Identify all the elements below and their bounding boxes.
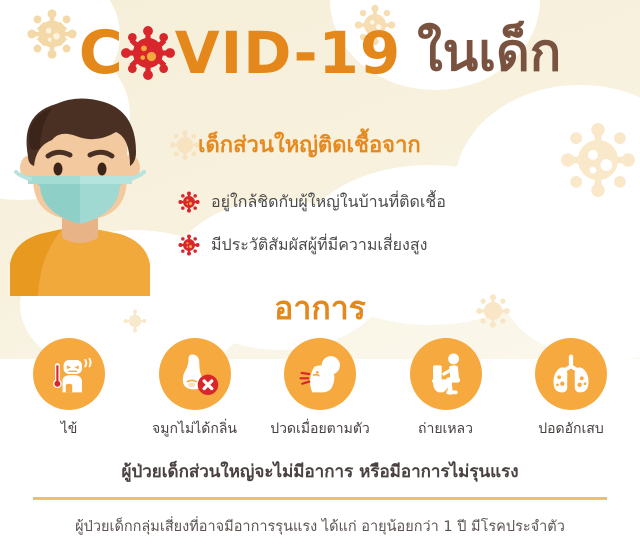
symptom-label: ปวดเมื่อยตามตัว [270,418,370,440]
icon-circle [159,338,231,410]
list-item: มีประวัติสัมผัสผู้ที่มีความเสี่ยงสูง [178,226,608,264]
virus-bullet-icon [178,191,200,213]
symptom-label: ไข้ [61,418,78,440]
symptom-item-pneumonia: ปอดอักเสบ [512,338,630,440]
icon-circle [33,338,105,410]
icon-circle [284,338,356,410]
lungs-icon [544,347,598,401]
symptom-label: จมูกไม่ได้กลิ่น [152,418,237,440]
page-title: C VID-19 ในเด็ก [0,12,640,94]
divider [33,497,607,500]
infographic-poster: C VID-19 ในเด็ก [0,0,640,549]
symptom-item-body-ache: ปวดเมื่อยตามตัว [261,338,379,440]
symptom-item-diarrhea: ถ่ายเหลว [387,338,505,440]
fever-icon [42,347,96,401]
bullet-list: อยู่ใกล้ชิดกับผู้ใหญ่ในบ้านที่ติดเชื้อ ม… [178,183,608,269]
icon-circle [410,338,482,410]
child-with-mask-illustration [0,96,160,296]
symptom-icon-row: ไข้ จมูกไม่ได้กลิ่น [10,338,630,440]
footer-secondary-text: ผู้ป่วยเด็กกลุ่มเสี่ยงที่อาจมีอาการรุนแร… [0,515,640,538]
symptom-label: ปอดอักเสบ [538,418,604,440]
no-smell-nose-icon [168,347,222,401]
symptom-item-fever: ไข้ [10,338,128,440]
symptoms-heading: อาการ [0,283,640,334]
icon-circle [535,338,607,410]
title-letter-c: C [79,23,123,83]
list-item: อยู่ใกล้ชิดกับผู้ใหญ่ในบ้านที่ติดเชื้อ [178,183,608,221]
footer-primary-text: ผู้ป่วยเด็กส่วนใหญ่จะไม่มีอาการ หรือมีอา… [0,458,640,485]
diarrhea-toilet-icon [419,347,473,401]
subtitle-heading: เด็กส่วนใหญ่ติดเชื้อจาก [198,127,421,162]
virus-icon [119,24,177,82]
symptom-label: ถ่ายเหลว [418,418,473,440]
title-main-text: VID-19 [175,24,401,82]
body-ache-icon [293,347,347,401]
list-item-label: อยู่ใกล้ชิดกับผู้ใหญ่ในบ้านที่ติดเชื้อ [211,190,446,215]
virus-bullet-icon [178,234,200,256]
title-thai-text: ในเด็ก [417,27,561,79]
virus-decoration-icon [168,128,202,162]
list-item-label: มีประวัติสัมผัสผู้ที่มีความเสี่ยงสูง [211,233,427,258]
symptom-item-no-smell: จมูกไม่ได้กลิ่น [136,338,254,440]
